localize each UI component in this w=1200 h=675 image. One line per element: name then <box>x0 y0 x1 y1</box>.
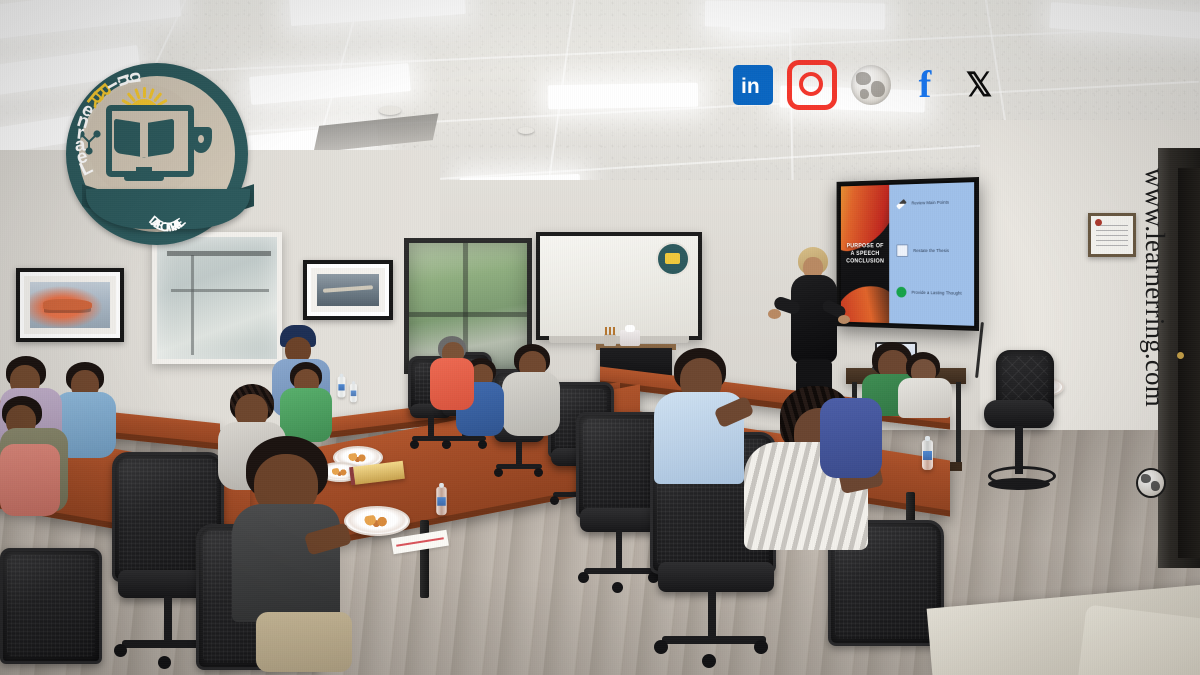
website-url: www.learnerring.com <box>1130 168 1170 498</box>
presenter-hand <box>768 309 781 319</box>
smoke-detector-icon <box>518 127 534 134</box>
website-url-wrap: www.learnerring.com <box>1130 168 1170 498</box>
presenter <box>772 247 854 397</box>
student <box>820 398 890 518</box>
wall-mounted-tv: PURPOSE OF A SPEECH CONCLUSION Review Ma… <box>837 177 979 331</box>
osprey-photo <box>317 274 379 306</box>
snack-plate <box>344 506 410 536</box>
glass-mullion <box>171 289 269 292</box>
student <box>654 348 750 498</box>
presenter-dress <box>791 275 837 363</box>
social-icon-bar: in f 𝕏 <box>733 58 999 112</box>
table-leg <box>956 382 961 464</box>
linkedin-icon[interactable]: in <box>733 65 773 105</box>
slide-bullet-text: Review Main Points <box>911 200 949 207</box>
slide-bullet-panel: Review Main Points Restate the Thesis Pr… <box>890 182 975 326</box>
whiteboard-logo-icon <box>656 242 690 276</box>
door[interactable] <box>1178 168 1200 558</box>
logo-arc-char: g <box>123 70 146 85</box>
ceiling-light-panel <box>730 17 790 32</box>
office-chair <box>0 548 110 675</box>
tissue-box <box>620 330 640 346</box>
helicopter-photo <box>30 282 110 328</box>
x-twitter-icon[interactable]: 𝕏 <box>959 65 999 105</box>
pencil-icon <box>897 198 908 209</box>
student <box>430 336 478 416</box>
wall-art-osprey <box>303 260 393 320</box>
learnerring-logo: LearneRRing LEARN TO LEAD <box>58 63 230 229</box>
whiteboard-marker-tray <box>549 336 688 343</box>
door-knob-icon[interactable] <box>1177 352 1184 359</box>
wall-art-helicopter <box>16 268 124 342</box>
student <box>232 436 352 666</box>
green-dot-icon <box>897 287 907 298</box>
glass-mullion <box>191 255 194 355</box>
presenter-hand <box>838 315 850 324</box>
water-bottle <box>338 377 346 398</box>
whiteboard <box>536 232 702 340</box>
banner-tagline: LEARN TO LEAD <box>86 189 250 229</box>
water-bottle <box>922 440 933 470</box>
linkedin-glyph: in <box>741 76 760 97</box>
slide-bullet-text: Provide a Lasting Thought <box>911 289 961 296</box>
pencil-cup <box>604 334 616 346</box>
logo-banner: LEARN TO LEAD <box>86 181 250 237</box>
screenshot-canvas: PURPOSE OF A SPEECH CONCLUSION Review Ma… <box>0 0 1200 675</box>
slide-bullet: Review Main Points <box>897 199 969 207</box>
water-bottle <box>436 487 446 516</box>
student <box>898 352 954 412</box>
globe-icon-wall <box>1136 468 1166 498</box>
student <box>502 344 564 440</box>
smoke-detector-icon <box>379 106 401 115</box>
student <box>0 444 66 554</box>
rolling-stool <box>982 350 1058 510</box>
stool-base <box>988 478 1050 490</box>
ceiling-light-panel <box>548 83 698 110</box>
facebook-icon[interactable]: f <box>905 65 945 105</box>
slide-bullet: Provide a Lasting Thought <box>897 287 969 299</box>
interior-glass-partition <box>152 232 282 364</box>
certificate-seal-icon <box>1095 219 1102 226</box>
water-bottle <box>350 384 357 403</box>
instagram-icon[interactable] <box>787 60 837 110</box>
document-icon <box>897 244 909 257</box>
glass-rail <box>167 251 271 256</box>
slide-bullet-text: Restate the Thesis <box>913 248 949 254</box>
student-shorts <box>256 612 352 672</box>
presentation-slide: PURPOSE OF A SPEECH CONCLUSION Review Ma… <box>841 182 974 326</box>
slide-bullet: Restate the Thesis <box>897 244 969 257</box>
stool-seat <box>984 400 1054 428</box>
certificate-text-lines <box>1096 221 1128 249</box>
framed-certificate <box>1088 213 1136 257</box>
globe-icon[interactable] <box>851 65 891 105</box>
